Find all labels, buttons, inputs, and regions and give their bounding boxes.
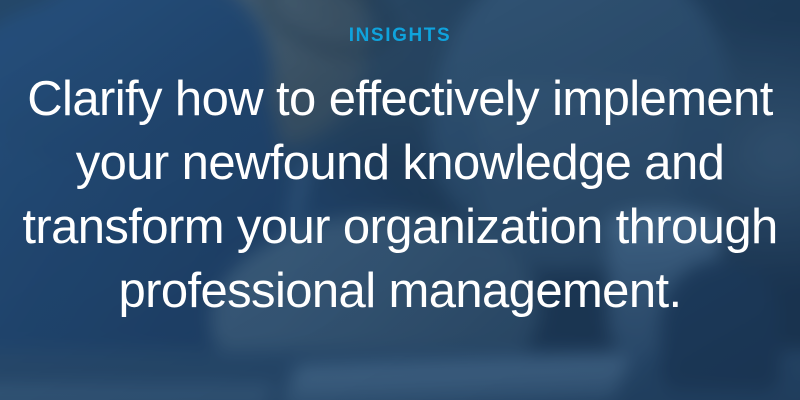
insights-banner: INSIGHTS Clarify how to effectively impl… [0,0,800,400]
headline-line-3: transform your organization through [6,195,794,259]
headline: Clarify how to effectively implement you… [0,67,800,323]
banner-content: INSIGHTS Clarify how to effectively impl… [0,0,800,400]
headline-line-2: your newfound knowledge and [6,131,794,195]
headline-line-4: professional management. [6,259,794,323]
headline-line-1: Clarify how to effectively implement [6,67,794,131]
eyebrow-label: INSIGHTS [349,26,452,45]
